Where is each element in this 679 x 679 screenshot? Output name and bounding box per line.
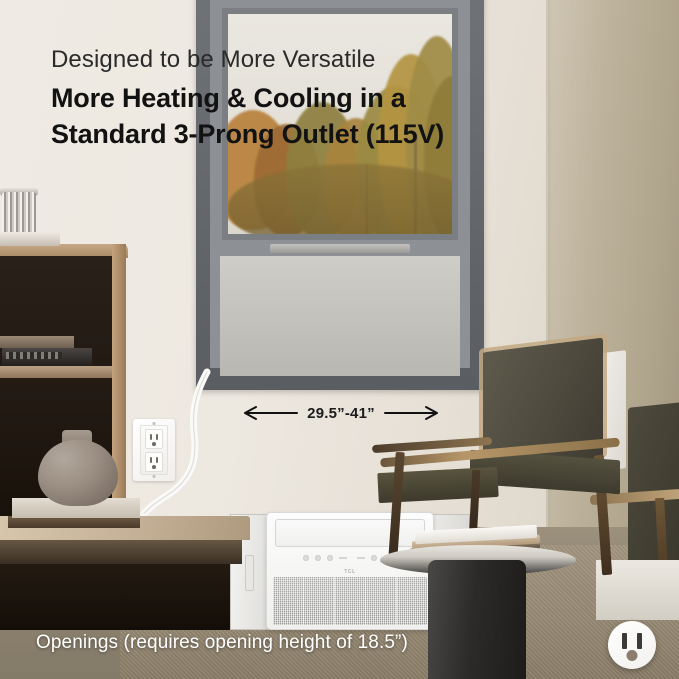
outlet-lower-receptacle[interactable] [145,452,163,472]
outlet-upper-receptacle[interactable] [145,429,163,449]
table-lamp-base-plate [0,232,60,246]
headline-line-2: Standard 3-Prong Outlet (115V) [51,116,444,152]
ac-display-digit [357,557,365,559]
kicker-text: Designed to be More Versatile [51,46,375,74]
ac-button-1[interactable] [303,555,309,561]
shelf-books [0,336,74,348]
media-console-shelf [0,366,120,378]
ceramic-vase [38,440,118,506]
ac-button-4[interactable] [371,555,377,561]
ac-display-dash [339,557,347,559]
shelf-electronics [2,348,92,366]
ac-air-vent [275,519,425,547]
round-side-table-base [428,560,526,679]
console-shadow [0,560,230,630]
wall-outlet[interactable] [133,419,175,481]
window-opening: TCL [220,256,460,376]
outlet-receptacle-body [140,425,168,475]
tcl-window-air-conditioner: TCL [266,512,434,630]
three-prong-outlet-icon [608,621,656,669]
right-arrow-icon [383,405,439,421]
headline-line-1: More Heating & Cooling in a [51,80,444,116]
ac-button-3[interactable] [327,555,333,561]
product-lifestyle-image: TCL [0,0,679,679]
headline: More Heating & Cooling in a Standard 3-P… [51,80,444,152]
dimension-label: 29.5”-41” [307,405,375,422]
console-front-edge [0,538,242,564]
footnote-text: Openings (requires opening height of 18.… [36,632,408,654]
left-arrow-icon [243,405,299,421]
ac-button-2[interactable] [315,555,321,561]
width-dimension-callout: 29.5”-41” [215,400,467,426]
ac-front-grille [273,577,427,625]
window-sash-lift-rail [270,244,410,253]
